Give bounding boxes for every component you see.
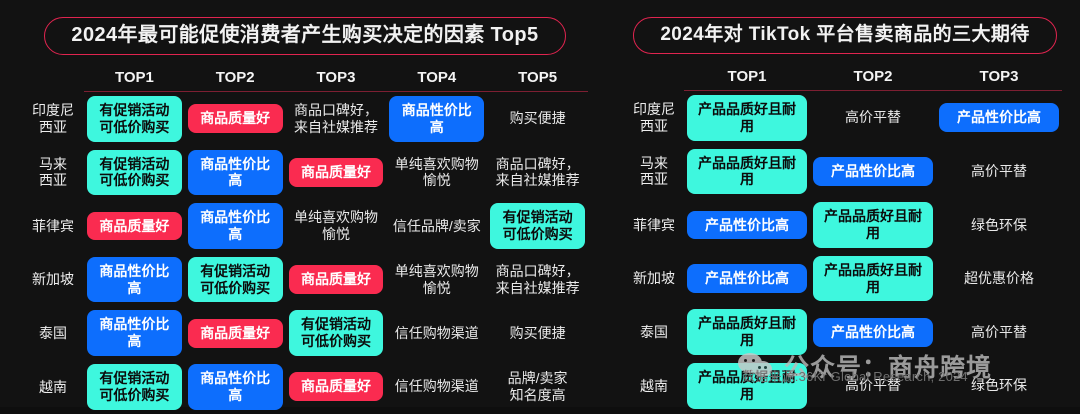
right-cell-cyan: 产品品质好且耐用 bbox=[687, 149, 807, 195]
table-cell: 产品品质好且耐用 bbox=[684, 359, 810, 413]
left-cell-blue: 商品性价比高 bbox=[188, 364, 283, 410]
table-cell: 商品性价比高 bbox=[386, 92, 487, 146]
right-header-row: TOP1 TOP2 TOP3 bbox=[624, 62, 1062, 91]
left-cell-plain: 信任品牌/卖家 bbox=[391, 212, 483, 241]
table-row: 越南产品品质好且耐用高价平替绿色环保 bbox=[624, 359, 1062, 413]
right-row-label: 马来 西亚 bbox=[624, 145, 684, 199]
right-row-label: 新加坡 bbox=[624, 252, 684, 306]
left-cell-plain: 购买便捷 bbox=[508, 319, 568, 348]
left-cell-plain: 购买便捷 bbox=[508, 104, 568, 133]
left-title-row: 2024年最可能促使消费者产生购买决定的因素 Top5 bbox=[0, 0, 610, 55]
left-panel: 2024年最可能促使消费者产生购买决定的因素 Top5 TOP1 TOP2 TO… bbox=[0, 0, 610, 407]
left-cell-cyan: 有促销活动 可低价购买 bbox=[87, 150, 182, 196]
left-cell-plain: 信任购物渠道 bbox=[393, 372, 481, 401]
left-cell-blue: 商品性价比高 bbox=[188, 150, 283, 196]
table-cell: 商品质量好 bbox=[84, 199, 185, 253]
left-table-body: 印度尼 西亚有促销活动 可低价购买商品质量好商品口碑好， 来自社媒推荐商品性价比… bbox=[22, 92, 588, 414]
left-cell-cyan: 有促销活动 可低价购买 bbox=[188, 257, 283, 303]
table-cell: 产品性价比高 bbox=[684, 198, 810, 252]
left-cell-blue: 商品性价比高 bbox=[188, 203, 283, 249]
right-cell-cyan: 产品品质好且耐用 bbox=[687, 95, 807, 141]
right-panel: 2024年对 TikTok 平台售卖商品的三大期待 TOP1 TOP2 TOP3… bbox=[610, 0, 1080, 407]
left-cell-plain: 商品口碑好， 来自社媒推荐 bbox=[292, 96, 380, 142]
table-row: 马来 西亚有促销活动 可低价购买商品性价比高商品质量好单纯喜欢购物 愉悦商品口碑… bbox=[22, 146, 588, 200]
left-col-header-0 bbox=[22, 63, 84, 92]
table-cell: 高价平替 bbox=[936, 145, 1062, 199]
left-row-label: 马来 西亚 bbox=[22, 146, 84, 200]
table-row: 新加坡产品性价比高产品品质好且耐用超优惠价格 bbox=[624, 252, 1062, 306]
tiktok-expectations-table: TOP1 TOP2 TOP3 印度尼 西亚产品品质好且耐用高价平替产品性价比高马… bbox=[624, 62, 1062, 413]
table-row: 泰国商品性价比高商品质量好有促销活动 可低价购买信任购物渠道购买便捷 bbox=[22, 306, 588, 360]
right-col-header-top1: TOP1 bbox=[684, 62, 810, 91]
table-cell: 品牌/卖家 知名度高 bbox=[487, 360, 588, 414]
left-cell-pink: 商品质量好 bbox=[188, 104, 283, 133]
table-cell: 有促销活动 可低价购买 bbox=[286, 306, 387, 360]
right-cell-cyan: 产品品质好且耐用 bbox=[687, 363, 807, 409]
right-cell-plain: 绿色环保 bbox=[969, 211, 1029, 240]
left-cell-plain: 单纯喜欢购物 愉悦 bbox=[393, 150, 481, 196]
left-col-header-top1: TOP1 bbox=[84, 63, 185, 92]
right-cell-cyan: 产品品质好且耐用 bbox=[687, 309, 807, 355]
table-cell: 超优惠价格 bbox=[936, 252, 1062, 306]
table-cell: 产品性价比高 bbox=[810, 145, 936, 199]
left-cell-cyan: 有促销活动 可低价购买 bbox=[87, 364, 182, 410]
table-cell: 产品性价比高 bbox=[684, 252, 810, 306]
table-cell: 商品性价比高 bbox=[84, 306, 185, 360]
left-col-header-top4: TOP4 bbox=[386, 63, 487, 92]
right-cell-cyan: 产品品质好且耐用 bbox=[813, 256, 933, 302]
table-row: 越南有促销活动 可低价购买商品性价比高商品质量好信任购物渠道品牌/卖家 知名度高 bbox=[22, 360, 588, 414]
left-col-header-top2: TOP2 bbox=[185, 63, 286, 92]
left-cell-pink: 商品质量好 bbox=[289, 158, 384, 187]
right-row-label: 印度尼 西亚 bbox=[624, 91, 684, 145]
left-cell-pink: 商品质量好 bbox=[188, 319, 283, 348]
table-cell: 商品性价比高 bbox=[185, 199, 286, 253]
table-cell: 单纯喜欢购物 愉悦 bbox=[386, 253, 487, 307]
table-cell: 产品品质好且耐用 bbox=[684, 305, 810, 359]
left-cell-plain: 单纯喜欢购物 愉悦 bbox=[292, 203, 380, 249]
infographic-canvas: 2024年最可能促使消费者产生购买决定的因素 Top5 TOP1 TOP2 TO… bbox=[0, 0, 1080, 407]
table-cell: 产品性价比高 bbox=[810, 305, 936, 359]
table-cell: 商品口碑好， 来自社媒推荐 bbox=[487, 146, 588, 200]
table-cell: 单纯喜欢购物 愉悦 bbox=[386, 146, 487, 200]
table-cell: 产品品质好且耐用 bbox=[810, 198, 936, 252]
table-cell: 商品性价比高 bbox=[84, 253, 185, 307]
left-cell-blue: 商品性价比高 bbox=[87, 257, 182, 303]
table-cell: 有促销活动 可低价购买 bbox=[487, 199, 588, 253]
right-cell-plain: 高价平替 bbox=[843, 103, 903, 132]
left-cell-plain: 单纯喜欢购物 愉悦 bbox=[393, 257, 481, 303]
table-cell: 信任购物渠道 bbox=[386, 306, 487, 360]
left-cell-blue: 商品性价比高 bbox=[389, 96, 484, 142]
left-cell-plain: 商品口碑好， 来自社媒推荐 bbox=[494, 257, 582, 303]
table-cell: 商品口碑好， 来自社媒推荐 bbox=[487, 253, 588, 307]
left-row-label: 越南 bbox=[22, 360, 84, 414]
right-table-header: TOP1 TOP2 TOP3 bbox=[624, 62, 1062, 91]
left-header-row: TOP1 TOP2 TOP3 TOP4 TOP5 bbox=[22, 63, 588, 92]
table-cell: 商品口碑好， 来自社媒推荐 bbox=[286, 92, 387, 146]
table-cell: 信任品牌/卖家 bbox=[386, 199, 487, 253]
right-cell-cyan: 产品品质好且耐用 bbox=[813, 202, 933, 248]
left-cell-plain: 信任购物渠道 bbox=[393, 319, 481, 348]
table-cell: 商品质量好 bbox=[286, 360, 387, 414]
left-col-header-top3: TOP3 bbox=[286, 63, 387, 92]
left-col-header-top5: TOP5 bbox=[487, 63, 588, 92]
table-cell: 购买便捷 bbox=[487, 306, 588, 360]
purchase-factors-table: TOP1 TOP2 TOP3 TOP4 TOP5 印度尼 西亚有促销活动 可低价… bbox=[22, 63, 588, 414]
right-col-header-top2: TOP2 bbox=[810, 62, 936, 91]
table-row: 印度尼 西亚产品品质好且耐用高价平替产品性价比高 bbox=[624, 91, 1062, 145]
table-row: 新加坡商品性价比高有促销活动 可低价购买商品质量好单纯喜欢购物 愉悦商品口碑好，… bbox=[22, 253, 588, 307]
left-row-label: 泰国 bbox=[22, 306, 84, 360]
table-cell: 商品质量好 bbox=[286, 253, 387, 307]
table-row: 马来 西亚产品品质好且耐用产品性价比高高价平替 bbox=[624, 145, 1062, 199]
right-row-label: 越南 bbox=[624, 359, 684, 413]
table-row: 菲律宾商品质量好商品性价比高单纯喜欢购物 愉悦信任品牌/卖家有促销活动 可低价购… bbox=[22, 199, 588, 253]
table-cell: 高价平替 bbox=[810, 359, 936, 413]
table-cell: 高价平替 bbox=[936, 305, 1062, 359]
table-cell: 商品质量好 bbox=[286, 146, 387, 200]
right-cell-plain: 高价平替 bbox=[969, 157, 1029, 186]
table-cell: 绿色环保 bbox=[936, 359, 1062, 413]
table-cell: 购买便捷 bbox=[487, 92, 588, 146]
right-cell-blue: 产品性价比高 bbox=[687, 211, 807, 240]
table-cell: 有促销活动 可低价购买 bbox=[185, 253, 286, 307]
table-cell: 商品质量好 bbox=[185, 306, 286, 360]
right-cell-blue: 产品性价比高 bbox=[939, 103, 1059, 132]
right-panel-title: 2024年对 TikTok 平台售卖商品的三大期待 bbox=[633, 17, 1056, 54]
table-row: 菲律宾产品性价比高产品品质好且耐用绿色环保 bbox=[624, 198, 1062, 252]
right-cell-blue: 产品性价比高 bbox=[813, 318, 933, 347]
right-table-body: 印度尼 西亚产品品质好且耐用高价平替产品性价比高马来 西亚产品品质好且耐用产品性… bbox=[624, 91, 1062, 413]
right-cell-blue: 产品性价比高 bbox=[687, 264, 807, 293]
table-cell: 商品性价比高 bbox=[185, 360, 286, 414]
left-cell-pink: 商品质量好 bbox=[289, 372, 384, 401]
table-cell: 商品质量好 bbox=[185, 92, 286, 146]
right-cell-plain: 高价平替 bbox=[843, 371, 903, 400]
table-cell: 信任购物渠道 bbox=[386, 360, 487, 414]
left-cell-cyan: 有促销活动 可低价购买 bbox=[87, 96, 182, 142]
left-table-header: TOP1 TOP2 TOP3 TOP4 TOP5 bbox=[22, 63, 588, 92]
table-cell: 产品性价比高 bbox=[936, 91, 1062, 145]
left-cell-cyan: 有促销活动 可低价购买 bbox=[289, 310, 384, 356]
left-cell-blue: 商品性价比高 bbox=[87, 310, 182, 356]
right-cell-plain: 绿色环保 bbox=[969, 371, 1029, 400]
table-row: 泰国产品品质好且耐用产品性价比高高价平替 bbox=[624, 305, 1062, 359]
left-cell-pink: 商品质量好 bbox=[87, 212, 182, 241]
table-cell: 产品品质好且耐用 bbox=[684, 91, 810, 145]
table-cell: 产品品质好且耐用 bbox=[684, 145, 810, 199]
right-col-header-0 bbox=[624, 62, 684, 91]
left-panel-title: 2024年最可能促使消费者产生购买决定的因素 Top5 bbox=[44, 17, 565, 55]
right-col-header-top3: TOP3 bbox=[936, 62, 1062, 91]
left-row-label: 菲律宾 bbox=[22, 199, 84, 253]
left-cell-plain: 品牌/卖家 知名度高 bbox=[506, 364, 570, 410]
table-cell: 有促销活动 可低价购买 bbox=[84, 360, 185, 414]
table-cell: 有促销活动 可低价购买 bbox=[84, 92, 185, 146]
left-cell-plain: 商品口碑好， 来自社媒推荐 bbox=[494, 150, 582, 196]
table-cell: 产品品质好且耐用 bbox=[810, 252, 936, 306]
left-cell-cyan: 有促销活动 可低价购买 bbox=[490, 203, 585, 249]
table-cell: 绿色环保 bbox=[936, 198, 1062, 252]
right-title-row: 2024年对 TikTok 平台售卖商品的三大期待 bbox=[610, 0, 1080, 54]
right-cell-blue: 产品性价比高 bbox=[813, 157, 933, 186]
table-cell: 商品性价比高 bbox=[185, 146, 286, 200]
table-row: 印度尼 西亚有促销活动 可低价购买商品质量好商品口碑好， 来自社媒推荐商品性价比… bbox=[22, 92, 588, 146]
left-cell-pink: 商品质量好 bbox=[289, 265, 384, 294]
right-cell-plain: 高价平替 bbox=[969, 318, 1029, 347]
right-cell-plain: 超优惠价格 bbox=[962, 264, 1036, 293]
table-cell: 高价平替 bbox=[810, 91, 936, 145]
table-cell: 有促销活动 可低价购买 bbox=[84, 146, 185, 200]
left-row-label: 新加坡 bbox=[22, 253, 84, 307]
left-row-label: 印度尼 西亚 bbox=[22, 92, 84, 146]
right-row-label: 泰国 bbox=[624, 305, 684, 359]
table-cell: 单纯喜欢购物 愉悦 bbox=[286, 199, 387, 253]
right-row-label: 菲律宾 bbox=[624, 198, 684, 252]
